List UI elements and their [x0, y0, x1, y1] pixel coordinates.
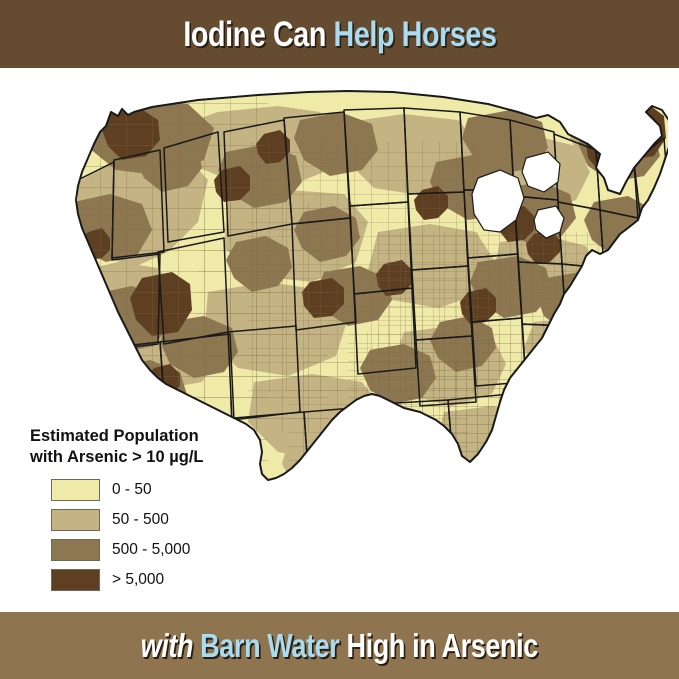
legend-label-50-500: 50 - 500 [112, 511, 169, 529]
legend-swatch-0-50 [51, 479, 100, 501]
legend-label-over-5000: > 5,000 [112, 571, 164, 589]
legend-item-0-50: 0 - 50 [30, 475, 290, 505]
legend-label-0-50: 0 - 50 [112, 481, 152, 499]
legend-swatch-50-500 [51, 509, 100, 531]
map-area: Estimated Population with Arsenic > 10 µ… [0, 68, 679, 612]
legend-item-500-5000: 500 - 5,000 [30, 535, 290, 565]
top-banner-title: Iodine Can Help Horses [183, 17, 496, 52]
legend-label-500-5000: 500 - 5,000 [112, 541, 190, 559]
top-banner: Iodine Can Help Horses [0, 0, 679, 68]
legend-item-over-5000: > 5,000 [30, 565, 290, 595]
legend-title-line-1: Estimated Population [30, 426, 290, 447]
legend-swatch-500-5000 [51, 539, 100, 561]
legend-swatch-over-5000 [51, 569, 100, 591]
bottom-banner: with Barn Water High in Arsenic [0, 612, 679, 679]
legend-items: 0 - 50 50 - 500 500 - 5,000 > 5,000 [30, 475, 290, 595]
bottom-banner-title: with Barn Water High in Arsenic [141, 629, 538, 662]
top-banner-title-part-2: Help Horses [333, 15, 496, 54]
legend: Estimated Population with Arsenic > 10 µ… [30, 426, 290, 595]
legend-title-line-2: with Arsenic > 10 µg/L [30, 447, 290, 468]
legend-title: Estimated Population with Arsenic > 10 µ… [30, 426, 290, 468]
bottom-banner-title-part-2: Barn Water [200, 627, 346, 664]
top-banner-title-part-1: Iodine Can [183, 15, 333, 54]
bottom-banner-title-part-1: with [141, 627, 201, 664]
legend-item-50-500: 50 - 500 [30, 505, 290, 535]
bottom-banner-title-part-3: High in Arsenic [347, 627, 538, 664]
